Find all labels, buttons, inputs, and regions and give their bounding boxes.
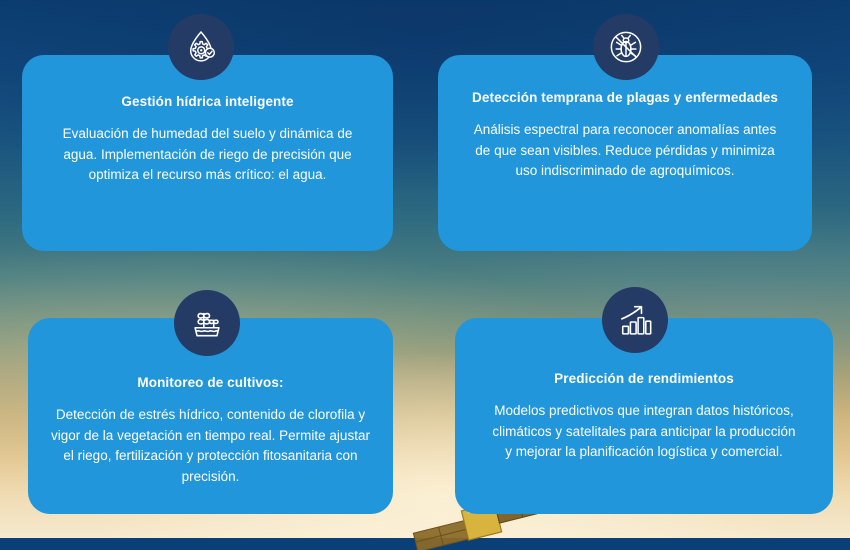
card-body: Modelos predictivos que integran datos h… xyxy=(491,401,797,463)
feature-card-grid: Gestión hídrica inteligente Evaluación d… xyxy=(0,0,850,538)
icon-badge-monitoreo-cultivos xyxy=(174,290,240,356)
card-title: Detección temprana de plagas y enfermeda… xyxy=(472,89,778,107)
card-body: Análisis espectral para reconocer anomal… xyxy=(472,120,778,182)
card-title: Monitoreo de cultivos: xyxy=(46,374,375,392)
card-title: Predicción de rendimientos xyxy=(491,370,797,388)
card-body: Evaluación de humedad del suelo y dinámi… xyxy=(48,124,367,186)
icon-badge-deteccion-plagas xyxy=(593,14,659,80)
icon-badge-prediccion-rendimientos xyxy=(602,287,668,353)
water-droplet-gear-check-icon xyxy=(182,28,220,66)
icon-badge-gestion-hidrica xyxy=(168,14,234,80)
feature-card-gestion-hidrica[interactable]: Gestión hídrica inteligente Evaluación d… xyxy=(22,55,393,251)
sprouting-plants-soil-icon xyxy=(188,304,226,342)
growth-bar-chart-arrow-icon xyxy=(616,301,654,339)
card-title: Gestión hídrica inteligente xyxy=(48,93,367,111)
card-body: Detección de estrés hídrico, contenido d… xyxy=(46,405,375,487)
no-pest-bug-icon xyxy=(607,28,645,66)
feature-card-deteccion-plagas[interactable]: Detección temprana de plagas y enfermeda… xyxy=(438,55,812,251)
